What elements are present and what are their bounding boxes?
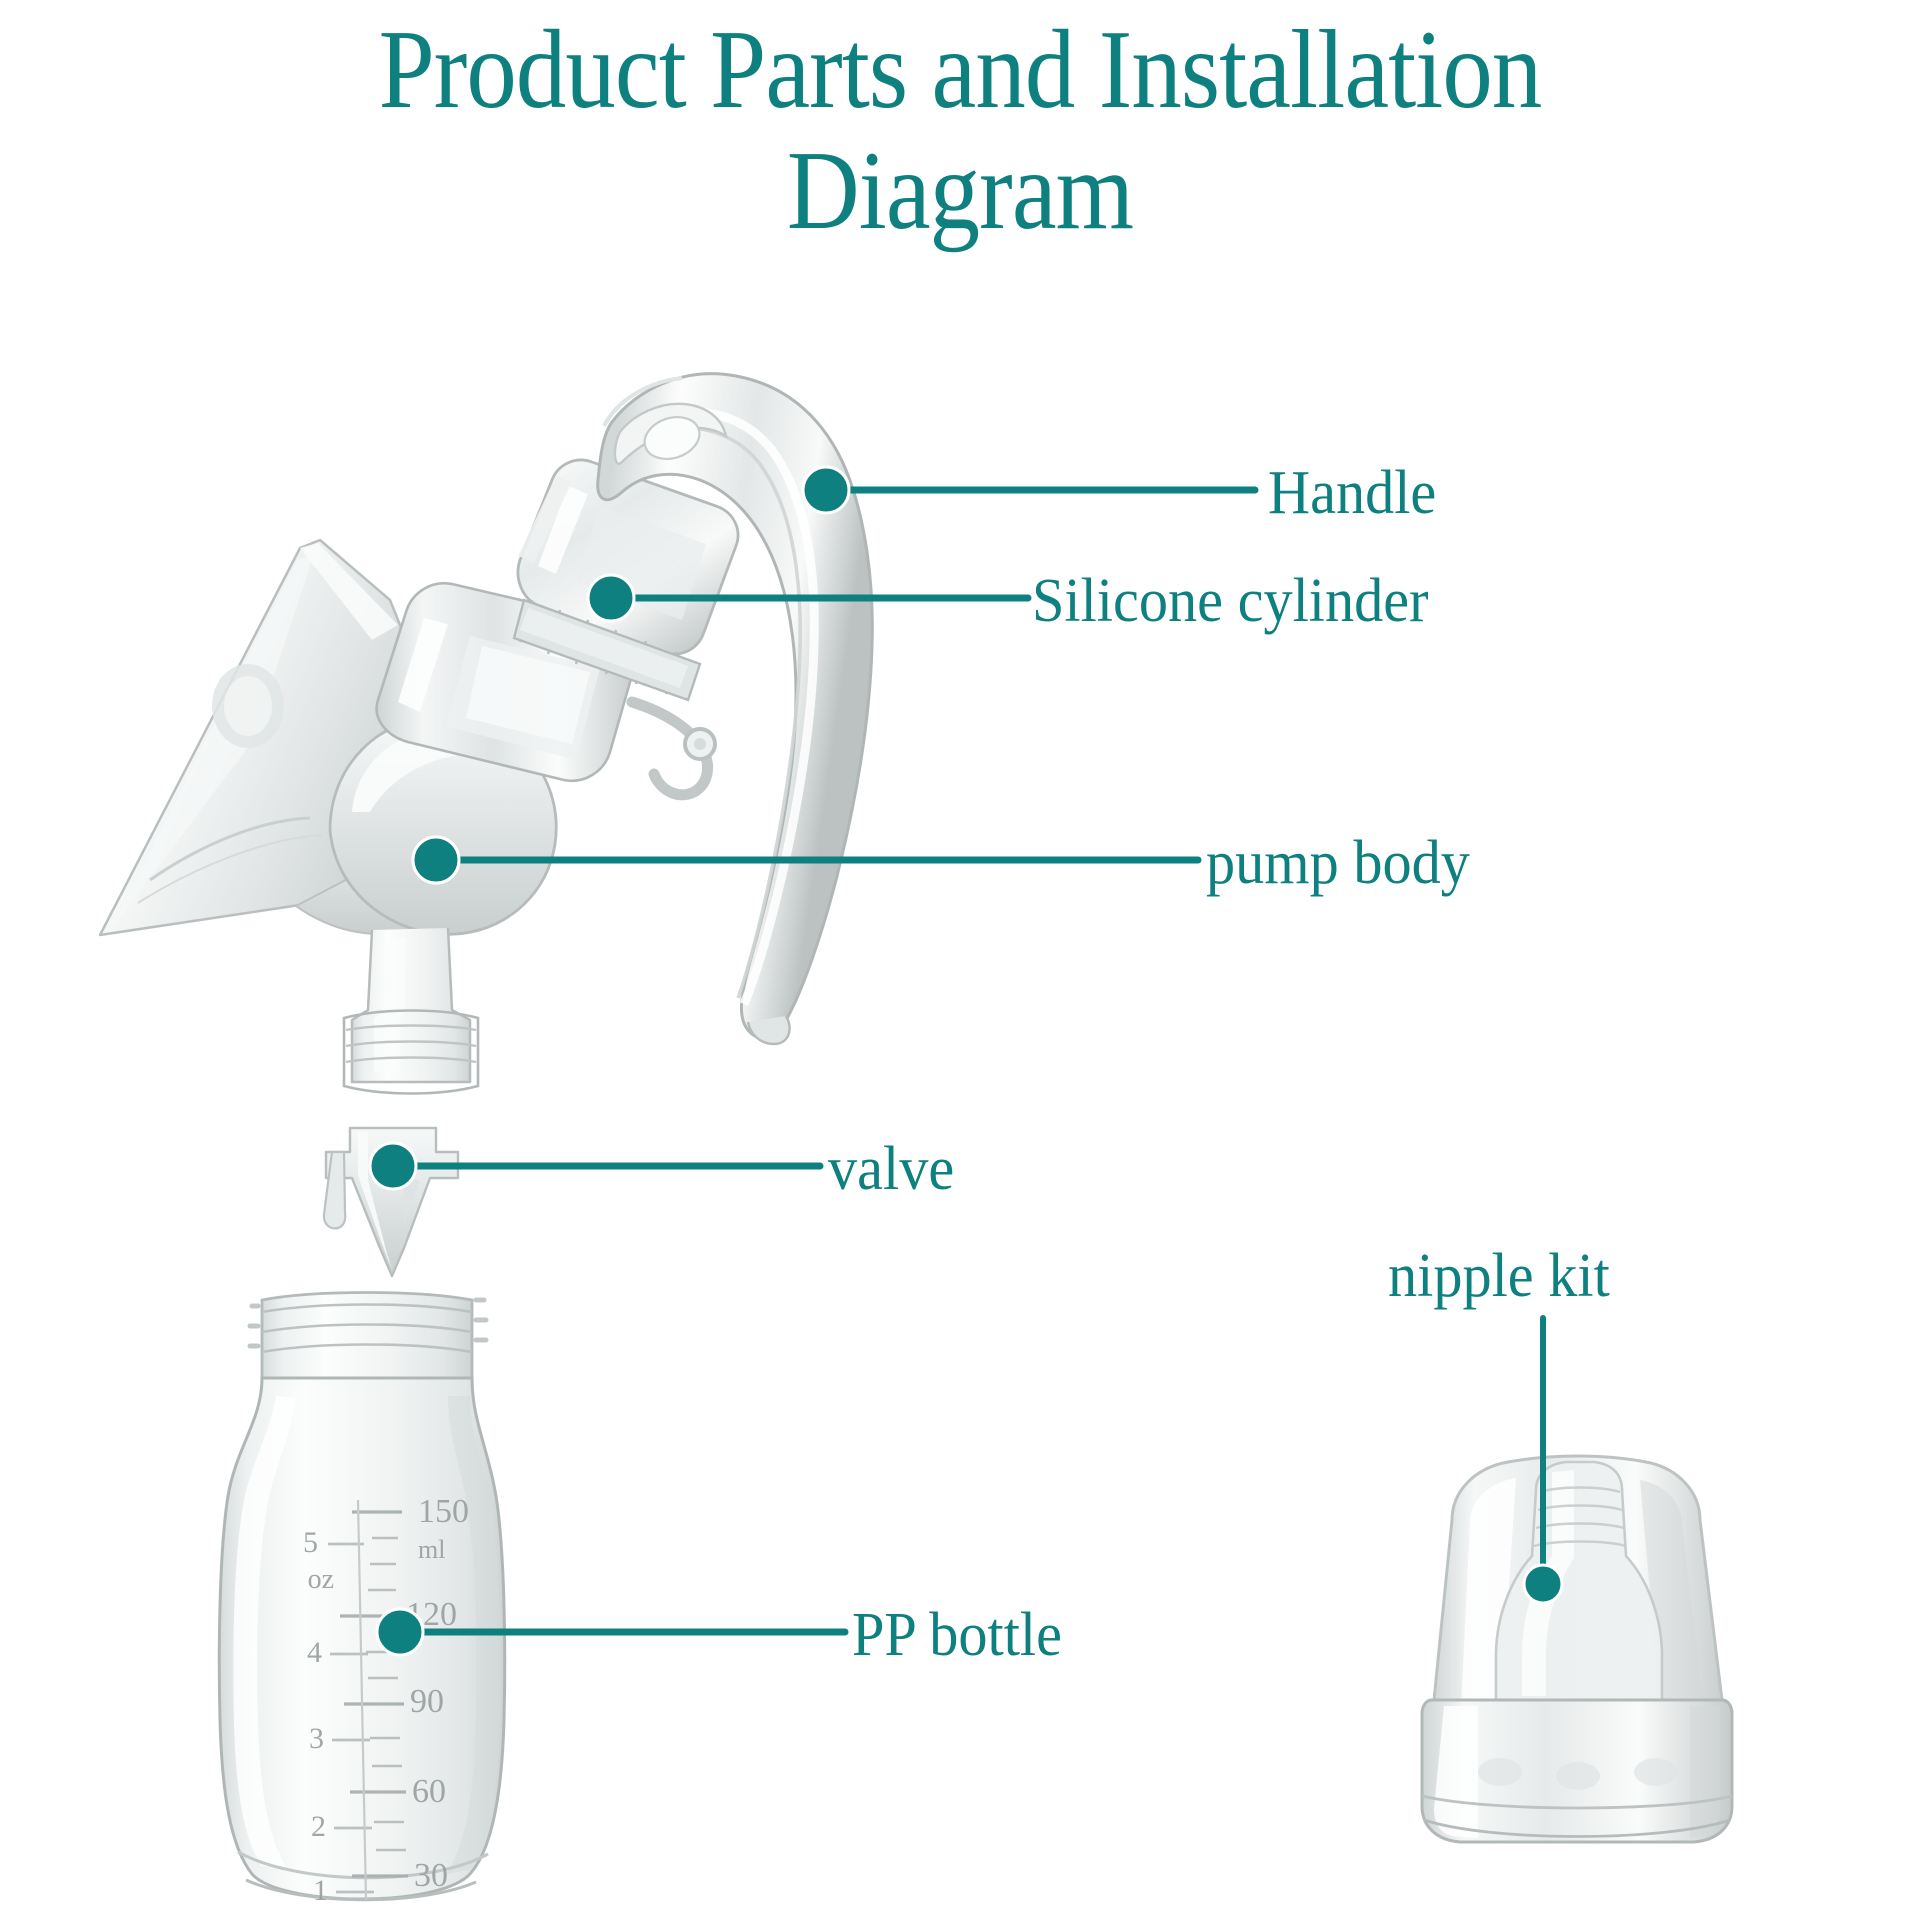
leader-dot-silicone-cylinder[interactable]: [588, 575, 634, 621]
title-line-2: Diagram: [96, 131, 1824, 252]
bottle-scale: 150 ml 120 90 60 30 5 oz 4 3 2 1: [303, 1493, 469, 1907]
silicone-cylinder-part: [514, 460, 738, 700]
pump-body-part: [330, 716, 556, 1094]
callout-label-pp-bottle[interactable]: PP bottle: [852, 1604, 1062, 1666]
svg-text:120: 120: [406, 1596, 457, 1633]
valve-part: [324, 1128, 458, 1276]
page-title: Product Parts and Installation Diagram: [0, 0, 1920, 252]
svg-text:1: 1: [313, 1874, 328, 1907]
pump-collar-part: [377, 583, 715, 795]
svg-text:2: 2: [311, 1810, 326, 1843]
pp-bottle-part: 150 ml 120 90 60 30 5 oz 4 3 2 1: [219, 1293, 504, 1908]
svg-text:30: 30: [414, 1857, 448, 1894]
diagram-canvas: Product Parts and Installation Diagram: [0, 0, 1920, 1920]
callout-label-silicone-cylinder[interactable]: Silicone cylinder: [1032, 570, 1429, 632]
callout-label-pump-body[interactable]: pump body: [1206, 832, 1470, 894]
svg-text:150: 150: [418, 1493, 469, 1530]
handle-part: [598, 374, 873, 1044]
breast-shield-part: [100, 540, 435, 935]
callout-label-handle[interactable]: Handle: [1268, 462, 1436, 524]
leader-dot-pump-body[interactable]: [413, 837, 459, 883]
svg-text:5: 5: [303, 1526, 318, 1559]
callout-label-nipple-kit[interactable]: nipple kit: [1388, 1245, 1610, 1307]
svg-text:60: 60: [412, 1773, 446, 1810]
svg-text:90: 90: [410, 1683, 444, 1720]
callout-label-valve[interactable]: valve: [828, 1138, 954, 1200]
leader-dot-handle[interactable]: [803, 467, 849, 513]
svg-text:oz: oz: [308, 1564, 334, 1595]
svg-text:4: 4: [307, 1636, 322, 1669]
svg-text:ml: ml: [418, 1535, 445, 1564]
nipple-kit-part: [1422, 1456, 1732, 1842]
leader-dot-valve[interactable]: [370, 1143, 416, 1189]
title-line-1: Product Parts and Installation: [96, 0, 1824, 131]
leader-dot-nipple-kit[interactable]: [1524, 1565, 1562, 1603]
svg-text:3: 3: [309, 1722, 324, 1755]
leader-dot-pp-bottle[interactable]: [377, 1609, 423, 1655]
